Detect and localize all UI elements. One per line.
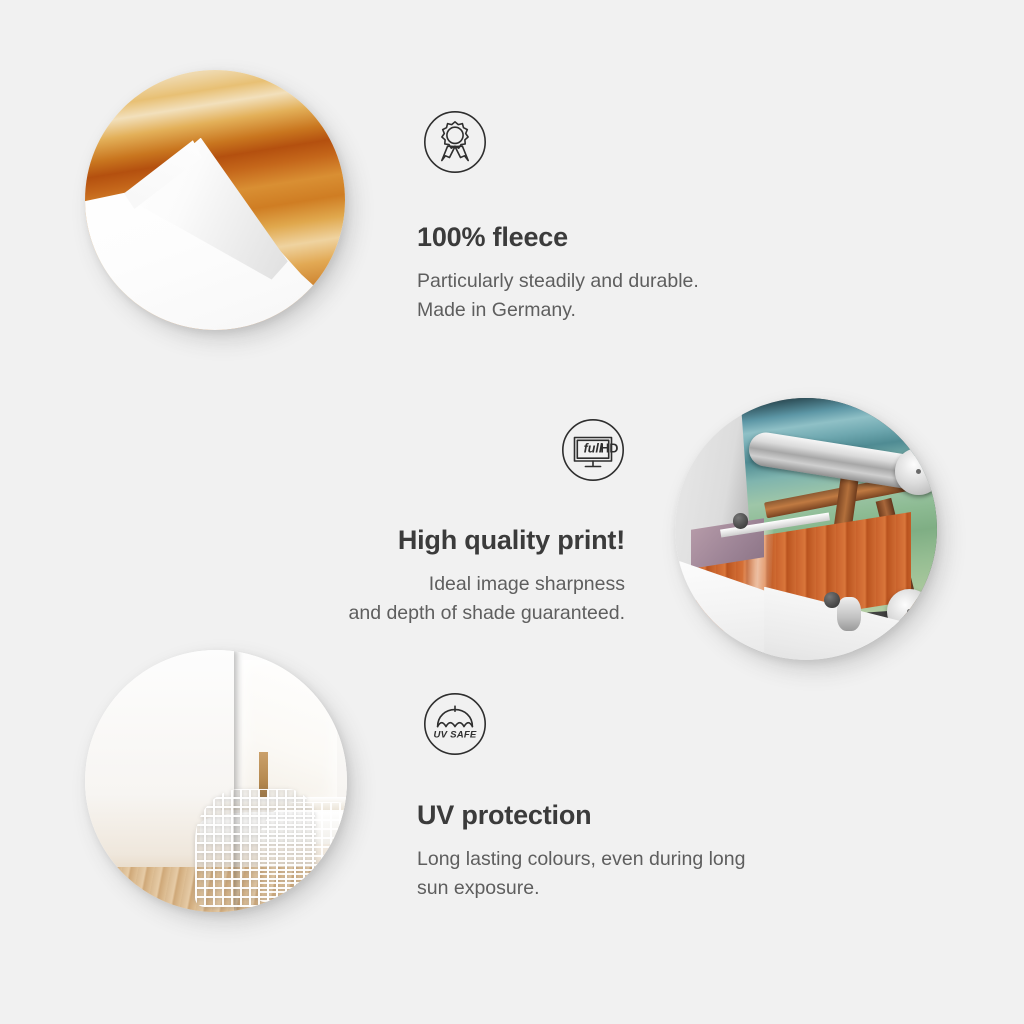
photo-inner (85, 70, 345, 330)
feature-body: Long lasting colours, even during long s… (417, 845, 745, 903)
feature-body: Particularly steadily and durable. Made … (417, 267, 699, 325)
award-rosette-icon (423, 110, 487, 174)
white-wire-chair-second (258, 802, 347, 902)
large-format-printer-photo (675, 398, 937, 660)
printer-spindle (837, 597, 861, 631)
uv-safe-label: UV SAFE (434, 730, 477, 741)
uv-safe-umbrella-icon: UV SAFE (423, 692, 487, 756)
photo-inner (675, 398, 937, 660)
fleece-wallpaper-peeled-corner-photo (85, 70, 345, 330)
infographic-canvas: 100% fleece Particularly steadily and du… (0, 0, 1024, 1024)
photo-inner (85, 650, 347, 912)
full-hd-monitor-icon: full HD (561, 418, 625, 482)
feature-heading: 100% fleece (417, 222, 568, 253)
mandala-mural-room-photo (85, 650, 347, 912)
feature-body: Ideal image sharpness and depth of shade… (349, 570, 626, 628)
printer-knob-lower (824, 592, 840, 608)
feature-heading: UV protection (417, 800, 591, 831)
feature-heading: High quality print! (398, 525, 625, 556)
roller-wheel-top (895, 448, 937, 495)
full-hd-label-bold: HD (600, 442, 618, 456)
window (242, 660, 336, 807)
